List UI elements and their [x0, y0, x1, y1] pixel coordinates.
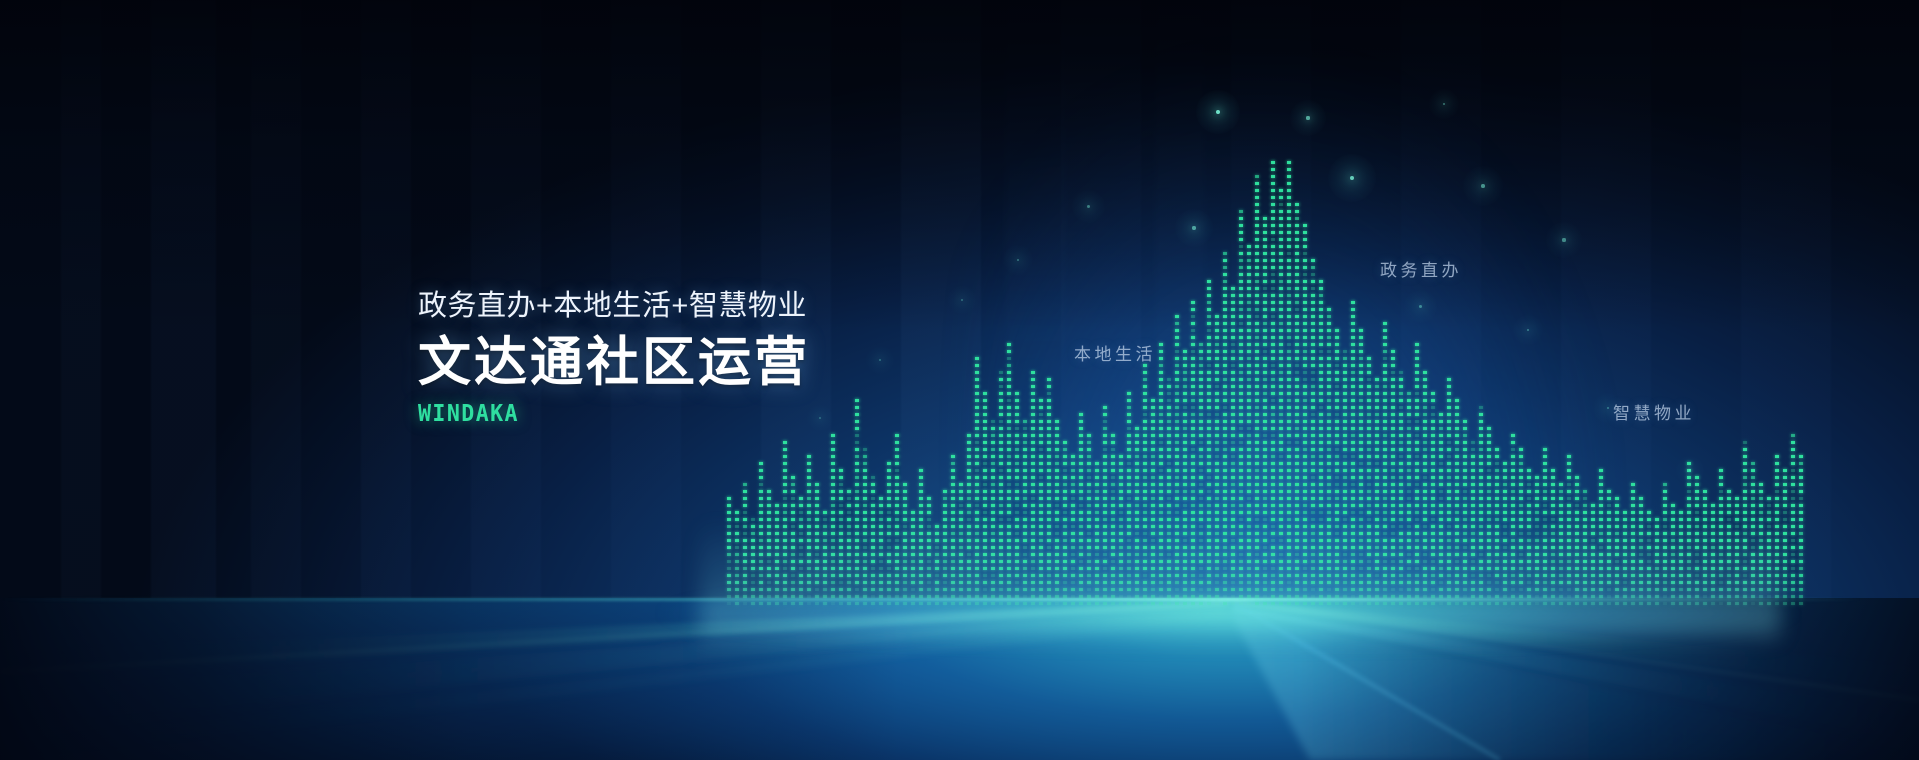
hero-headline: 文达通社区运营	[418, 335, 810, 391]
hero-text-block: 政务直办+本地生活+智慧物业 文达通社区运营 WINDAKA	[418, 292, 810, 427]
sparkle-dot	[1216, 110, 1220, 114]
sparkle-dot	[1087, 205, 1090, 208]
floating-tag-smart-estate: 智慧物业	[1613, 399, 1695, 424]
floating-tag-gov-service: 政务直办	[1380, 256, 1462, 281]
sparkle-dot	[1419, 305, 1422, 308]
city-base-haze	[700, 520, 1780, 640]
sparkle-dot	[1306, 116, 1309, 119]
sparkle-dot	[1562, 238, 1565, 241]
brand-wordmark: WINDAKA	[418, 401, 786, 427]
floating-tag-local-life: 本地生活	[1074, 340, 1156, 365]
background-top-shade	[0, 0, 1919, 330]
hero-subtitle: 政务直办+本地生活+智慧物业	[418, 292, 810, 321]
sparkle-dot	[1192, 226, 1195, 229]
sparkle-dot	[1481, 184, 1485, 188]
hero-banner: 本地生活 政务直办 智慧物业 政务直办+本地生活+智慧物业 文达通社区运营 WI…	[0, 0, 1919, 760]
